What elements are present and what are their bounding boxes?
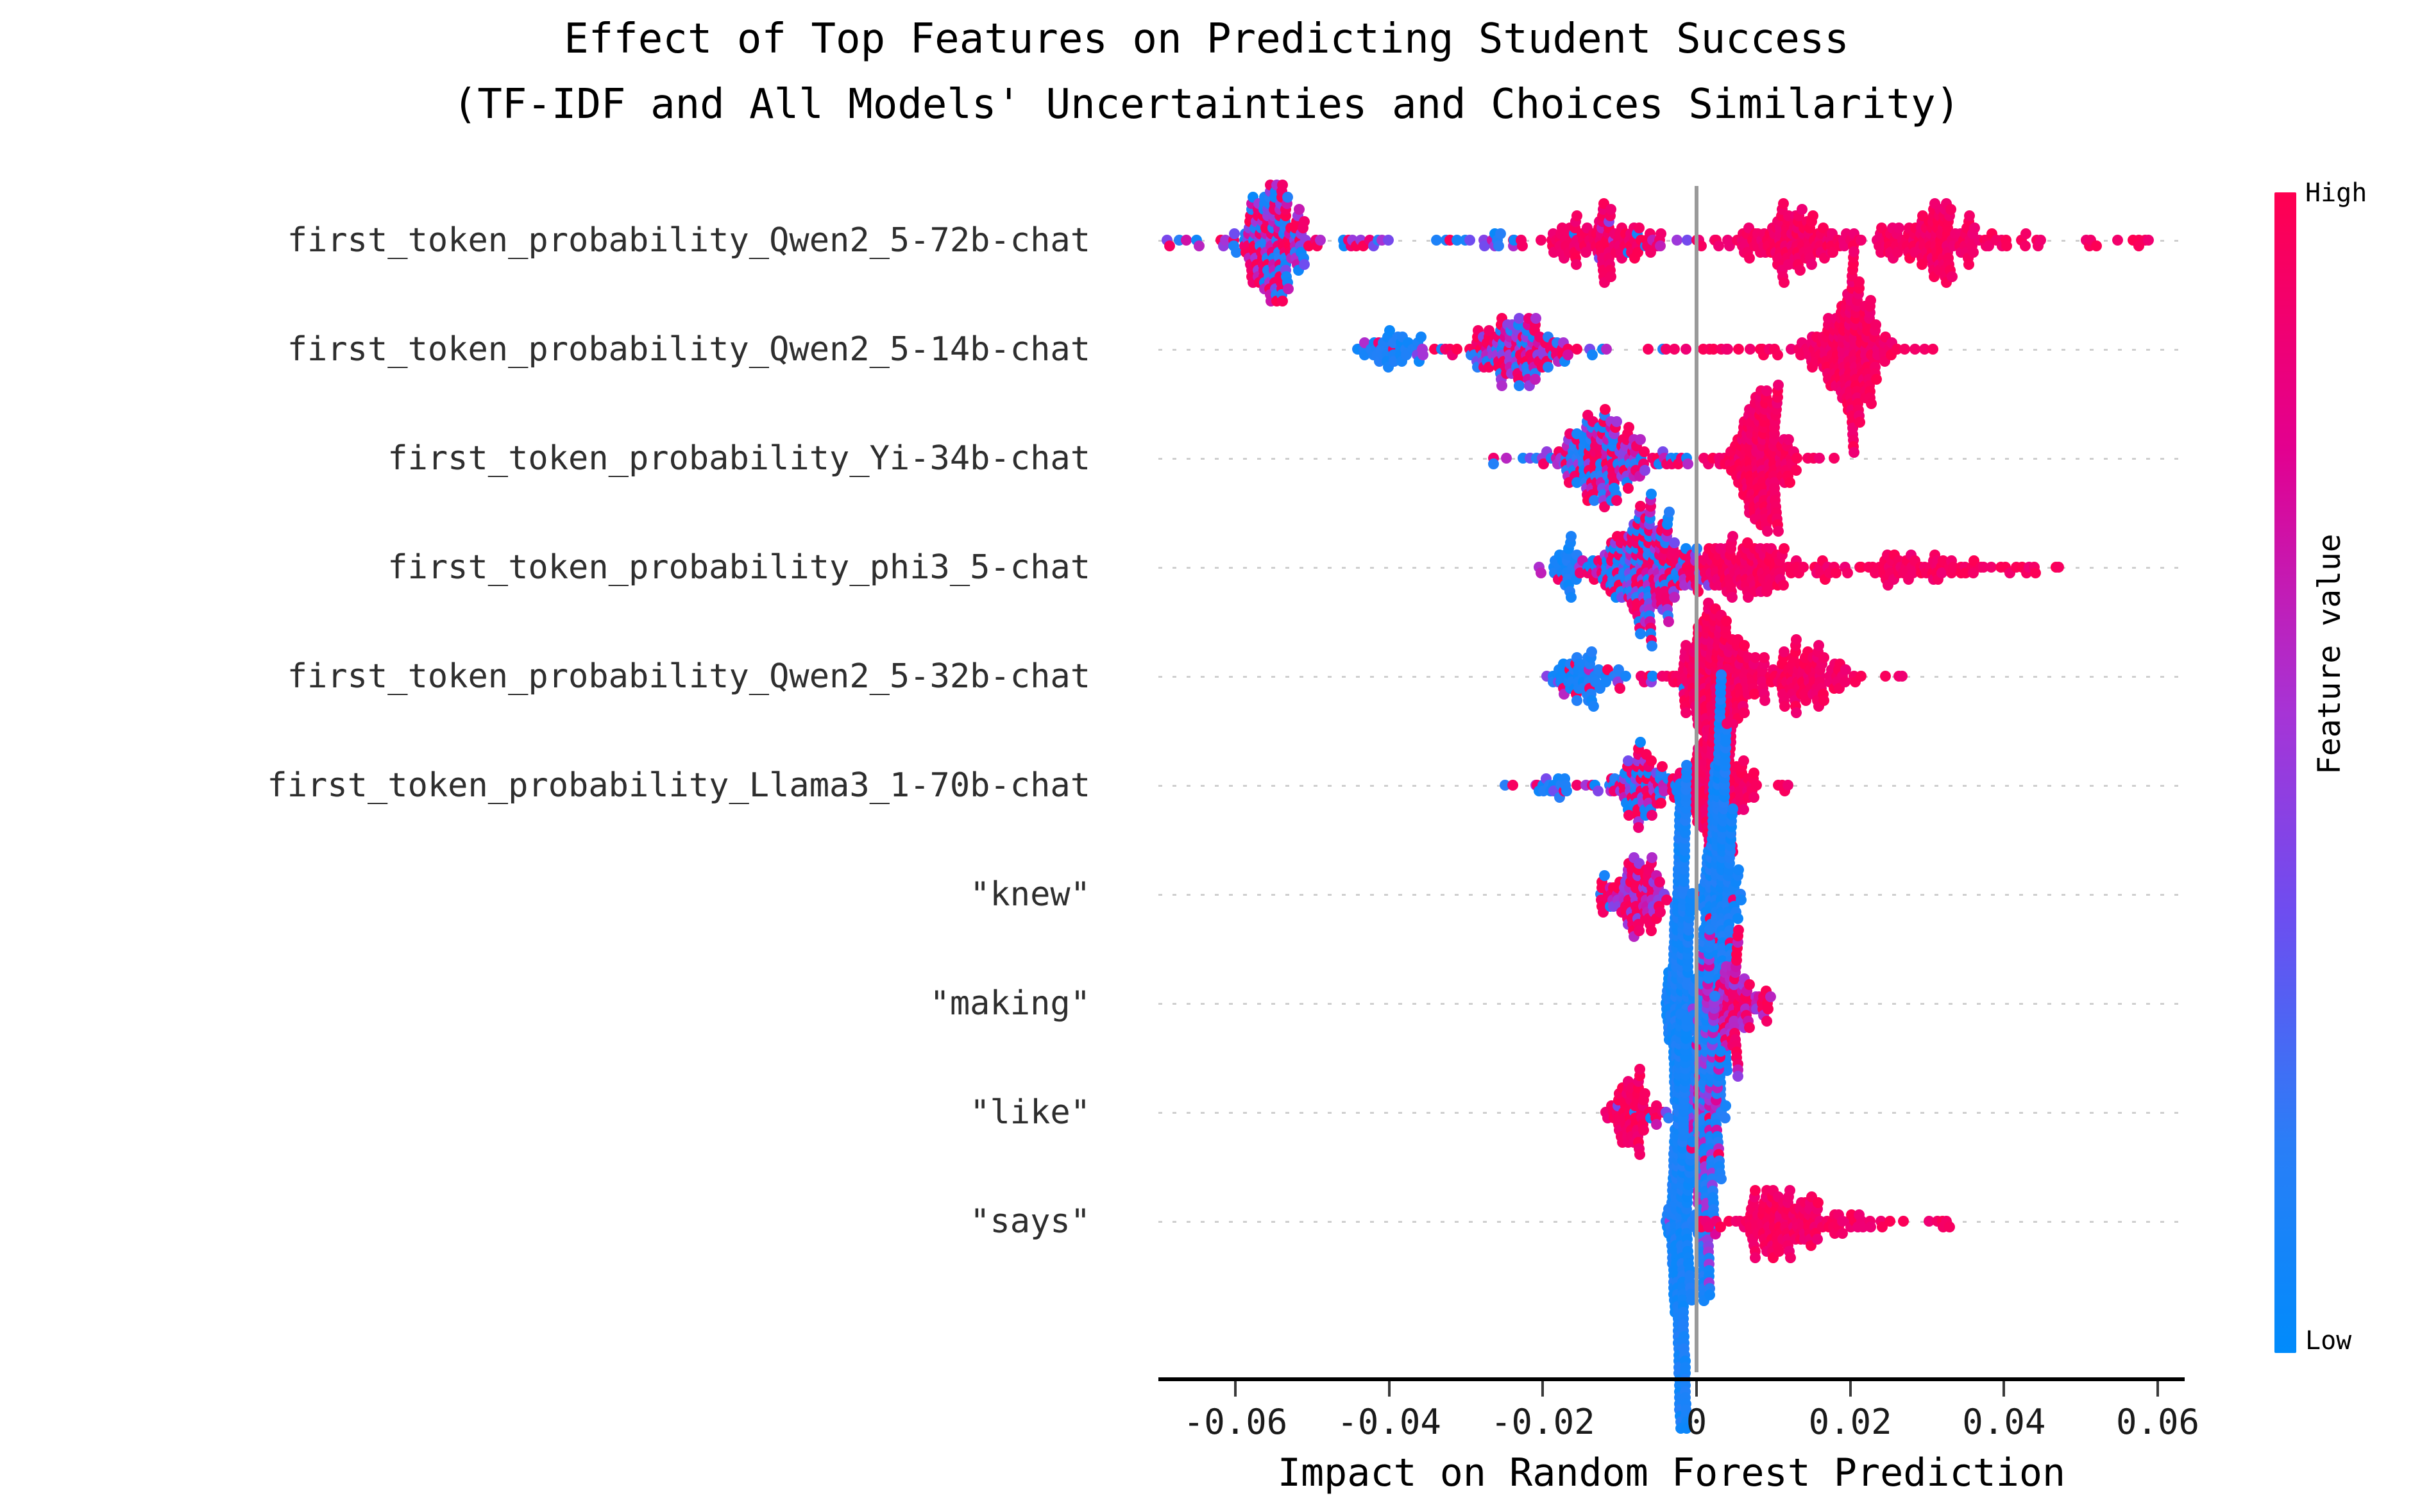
beeswarm-point — [1571, 259, 1582, 270]
beeswarm-point — [1229, 228, 1240, 239]
beeswarm-point — [1639, 1088, 1650, 1099]
beeswarm-point — [1720, 1113, 1731, 1123]
beeswarm-point — [1600, 404, 1611, 415]
beeswarm-point — [1744, 253, 1755, 264]
beeswarm-point — [1566, 531, 1577, 542]
beeswarm-point — [1722, 718, 1732, 729]
beeswarm-point — [1647, 810, 1657, 821]
beeswarm-point — [1452, 344, 1462, 355]
beeswarm-point — [1715, 1046, 1726, 1057]
beeswarm-point — [1818, 652, 1829, 663]
beeswarm-point — [1299, 259, 1310, 270]
beeswarm-point — [1635, 434, 1646, 445]
beeswarm-point — [1791, 634, 1802, 645]
beeswarm-point — [1806, 259, 1817, 270]
beeswarm-point — [1849, 246, 1859, 257]
beeswarm-point — [1784, 1185, 1795, 1196]
beeswarm-row — [1158, 404, 2185, 513]
beeswarm-point — [1488, 458, 1499, 469]
beeswarm-point — [1681, 707, 1691, 718]
y-axis-label: "like" — [970, 1058, 1090, 1167]
beeswarm-point — [1646, 925, 1657, 936]
x-axis-tick-label: 0.04 — [1962, 1402, 2045, 1442]
beeswarm-point — [1963, 259, 1974, 270]
beeswarm-point — [1655, 240, 1666, 251]
beeswarm-point — [1669, 537, 1680, 548]
beeswarm-point — [1655, 798, 1666, 809]
beeswarm-points — [1158, 949, 2185, 1058]
beeswarm-point — [1315, 235, 1326, 246]
beeswarm-point — [1543, 362, 1554, 373]
x-axis-tick — [1234, 1381, 1237, 1397]
beeswarm-points — [1158, 1167, 2185, 1276]
beeswarm-point — [1599, 870, 1610, 881]
beeswarm-point — [1634, 1149, 1645, 1160]
colorbar-low-label: Low — [2305, 1326, 2351, 1356]
beeswarm-point — [2001, 240, 2012, 251]
beeswarm-point — [1748, 768, 1759, 778]
beeswarm-point — [1898, 1216, 1909, 1227]
beeswarm-point — [1431, 235, 1442, 246]
beeswarm-point — [1763, 1004, 1774, 1014]
beeswarm-point — [1791, 465, 1802, 476]
chart-title-line-2: (TF-IDF and All Models' Uncertainties an… — [0, 72, 2413, 137]
beeswarm-point — [1944, 1222, 1955, 1232]
beeswarm-point — [1783, 434, 1794, 445]
beeswarm-point — [1587, 349, 1598, 360]
beeswarm-point — [1635, 737, 1646, 748]
beeswarm-point — [1672, 235, 1682, 246]
beeswarm-point — [1655, 907, 1666, 918]
y-axis-labels: first_token_probability_Qwen2_5-72b-chat… — [0, 186, 1116, 1372]
beeswarm-point — [1733, 344, 1744, 355]
chart-title: Effect of Top Features on Predicting Stu… — [0, 6, 2413, 137]
beeswarm-point — [1856, 671, 1867, 682]
beeswarm-points — [1158, 295, 2185, 404]
beeswarm-point — [1620, 671, 1631, 682]
beeswarm-point — [1865, 1222, 1876, 1232]
beeswarm-point — [1611, 416, 1622, 427]
beeswarm-point — [1181, 235, 1192, 246]
beeswarm-point — [1909, 344, 1920, 355]
beeswarm-point — [1646, 755, 1657, 766]
beeswarm-point — [1727, 592, 1738, 603]
beeswarm-point — [1791, 707, 1802, 718]
beeswarm-point — [1738, 755, 1749, 766]
beeswarm-point — [1704, 1289, 1715, 1300]
beeswarm-point — [1634, 223, 1645, 233]
beeswarm-point — [1727, 803, 1738, 814]
beeswarm-point — [2091, 240, 2102, 251]
beeswarm-point — [2035, 235, 2046, 246]
colorbar-high-label: High — [2305, 178, 2367, 208]
beeswarm-point — [1808, 210, 1818, 221]
beeswarm-point — [1633, 822, 1644, 833]
beeswarm-points — [1158, 513, 2185, 622]
x-axis-tick — [1388, 1381, 1391, 1397]
beeswarm-point — [1571, 210, 1582, 221]
beeswarm-point — [1681, 760, 1692, 771]
beeswarm-point — [1761, 385, 1772, 396]
beeswarm-point — [1623, 422, 1634, 433]
beeswarm-point — [1785, 1252, 1796, 1263]
beeswarm-point — [1870, 319, 1881, 330]
beeswarm-point — [1727, 531, 1738, 542]
beeswarm-point — [1782, 780, 1793, 791]
beeswarm-point — [1797, 204, 1808, 215]
beeswarm-point — [1772, 349, 1783, 360]
beeswarm-point — [1614, 683, 1625, 694]
x-axis-tick-label: -0.02 — [1491, 1402, 1595, 1442]
x-axis-tick-label: 0 — [1686, 1402, 1707, 1442]
beeswarm-point — [1536, 567, 1546, 578]
colorbar-axis-title: Feature value — [2312, 533, 2348, 775]
beeswarm-point — [1968, 247, 1979, 258]
beeswarm-point — [1571, 344, 1582, 355]
beeswarm-point — [1856, 235, 1867, 246]
beeswarm-point — [1493, 240, 1504, 251]
beeswarm-point — [1566, 592, 1577, 603]
beeswarm-point — [2053, 562, 2064, 573]
beeswarm-point — [1720, 1100, 1731, 1111]
beeswarm-point — [1646, 489, 1657, 500]
beeswarm-row — [1158, 949, 2185, 1058]
beeswarm-point — [1791, 453, 1802, 464]
beeswarm-point — [1682, 458, 1693, 469]
beeswarm-point — [1647, 852, 1657, 863]
beeswarm-point — [1897, 671, 1908, 682]
beeswarm-point — [1818, 695, 1829, 706]
beeswarm-point — [1759, 695, 1770, 706]
beeswarm-point — [1605, 204, 1616, 215]
beeswarm-point — [1842, 567, 1853, 578]
beeswarm-point — [1795, 265, 1806, 276]
beeswarm-point — [1601, 344, 1612, 355]
beeswarm-point — [1779, 277, 1790, 288]
x-axis-tick — [1849, 1381, 1852, 1397]
beeswarm-point — [1738, 804, 1749, 815]
beeswarm-point — [1655, 228, 1666, 239]
beeswarm-point — [1812, 1234, 1823, 1245]
beeswarm-point — [1651, 1119, 1662, 1130]
beeswarm-point — [1638, 1125, 1649, 1136]
colorbar — [2274, 192, 2296, 1353]
beeswarm-point — [1884, 1216, 1895, 1227]
beeswarm-point — [1739, 707, 1750, 718]
beeswarm-point — [1759, 652, 1770, 663]
x-axis-tick-label: -0.06 — [1183, 1402, 1288, 1442]
beeswarm-point — [1464, 235, 1475, 246]
x-axis-tick — [1541, 1381, 1544, 1397]
beeswarm-point — [1536, 235, 1546, 246]
beeswarm-row — [1158, 513, 2185, 622]
beeswarm-point — [1623, 483, 1634, 494]
beeswarm-points — [1158, 404, 2185, 513]
beeswarm-point — [1639, 465, 1650, 476]
beeswarm-point — [2020, 240, 2031, 251]
beeswarm-point — [1716, 669, 1727, 680]
beeswarm-row — [1158, 186, 2185, 295]
beeswarm-point — [1681, 1014, 1692, 1025]
beeswarm-point — [1779, 543, 1790, 554]
beeswarm-point — [1779, 701, 1790, 712]
x-axis-tick — [2002, 1381, 2005, 1397]
beeswarm-point — [1765, 991, 1776, 1002]
beeswarm-point — [1709, 991, 1720, 1002]
beeswarm-point — [1605, 271, 1616, 282]
beeswarm-point — [1745, 344, 1756, 355]
beeswarm-point — [1635, 501, 1646, 512]
y-axis-label: first_token_probability_Qwen2_5-32b-chat — [287, 622, 1090, 731]
chart-title-line-1: Effect of Top Features on Predicting Stu… — [0, 6, 2413, 72]
beeswarm-point — [1751, 780, 1762, 791]
beeswarm-point — [1501, 453, 1512, 464]
beeswarm-point — [1657, 761, 1668, 772]
beeswarm-point — [1561, 785, 1572, 796]
beeswarm-row — [1158, 1167, 2185, 1276]
beeswarm-point — [1814, 453, 1825, 464]
beeswarm-points — [1158, 622, 2185, 731]
beeswarm-point — [1507, 780, 1518, 791]
x-axis-tick — [1695, 1381, 1698, 1397]
x-axis-tick — [2156, 1381, 2159, 1397]
beeswarm-point — [1277, 180, 1288, 190]
beeswarm-point — [1418, 349, 1428, 360]
beeswarm-point — [1299, 216, 1310, 227]
beeswarm-point — [1899, 344, 1910, 355]
beeswarm-point — [1681, 344, 1691, 355]
beeswarm-point — [2143, 235, 2154, 246]
beeswarm-point — [1778, 198, 1789, 209]
beeswarm-point — [1829, 453, 1840, 464]
beeswarm-point — [1773, 380, 1784, 391]
beeswarm-points — [1158, 731, 2185, 840]
beeswarm-point — [1704, 924, 1715, 935]
beeswarm-point — [1778, 580, 1789, 591]
beeswarm-point — [1530, 374, 1541, 385]
beeswarm-point — [1927, 344, 1938, 355]
beeswarm-point — [1798, 562, 1809, 573]
beeswarm-point — [1880, 671, 1891, 682]
beeswarm-point — [1571, 695, 1582, 706]
beeswarm-point — [1732, 913, 1743, 924]
beeswarm-point — [1739, 640, 1750, 651]
beeswarm-point — [1586, 646, 1597, 657]
beeswarm-row — [1158, 622, 2185, 731]
beeswarm-point — [1871, 374, 1882, 385]
x-axis-line — [1158, 1377, 2185, 1381]
beeswarm-points — [1158, 186, 2185, 295]
beeswarm-point — [1496, 380, 1507, 391]
beeswarm-point — [1664, 507, 1675, 517]
beeswarm-point — [1733, 925, 1744, 936]
beeswarm-point — [2030, 567, 2041, 578]
y-axis-label: first_token_probability_Qwen2_5-72b-chat — [287, 186, 1090, 295]
beeswarm-point — [1744, 1022, 1755, 1033]
beeswarm-row — [1158, 295, 2185, 404]
beeswarm-point — [1588, 701, 1599, 712]
beeswarm-point — [1517, 240, 1528, 251]
beeswarm-point — [1283, 283, 1294, 294]
beeswarm-point — [1294, 204, 1305, 215]
beeswarm-point — [1634, 925, 1645, 936]
beeswarm-point — [1495, 228, 1506, 239]
beeswarm-point — [1736, 895, 1747, 905]
beeswarm-point — [1654, 877, 1665, 887]
beeswarm-point — [1733, 864, 1744, 875]
beeswarm-point — [1722, 344, 1733, 355]
x-axis-tick-label: 0.02 — [1809, 1402, 1892, 1442]
beeswarm-point — [1748, 792, 1759, 803]
beeswarm-point — [1383, 235, 1394, 246]
beeswarm-point — [1784, 477, 1795, 488]
beeswarm-plot-area — [1158, 186, 2185, 1372]
beeswarm-point — [1964, 210, 1975, 221]
x-axis-tick-label: 0.06 — [2116, 1402, 2199, 1442]
x-axis-tick-label: -0.04 — [1337, 1402, 1441, 1442]
beeswarm-point — [1611, 495, 1622, 506]
beeswarm-point — [1721, 616, 1732, 626]
y-axis-label: "says" — [970, 1167, 1090, 1276]
beeswarm-point — [1750, 1252, 1761, 1263]
x-axis-title: Impact on Random Forest Prediction — [1158, 1450, 2185, 1495]
beeswarm-point — [1194, 240, 1205, 251]
zero-reference-line — [1695, 186, 1698, 1372]
beeswarm-point — [1865, 295, 1876, 306]
y-axis-label: "making" — [930, 949, 1090, 1058]
beeswarm-point — [2020, 228, 2031, 239]
beeswarm-point — [1969, 223, 1980, 233]
beeswarm-point — [1744, 979, 1755, 990]
beeswarm-row — [1158, 731, 2185, 840]
beeswarm-point — [1945, 204, 1956, 215]
beeswarm-point — [1761, 1016, 1772, 1027]
beeswarm-point — [1669, 592, 1680, 603]
y-axis-label: first_token_probability_Yi-34b-chat — [387, 404, 1090, 513]
beeswarm-point — [1669, 344, 1680, 355]
beeswarm-point — [1416, 332, 1427, 342]
beeswarm-point — [1643, 344, 1654, 355]
y-axis-label: first_token_probability_Qwen2_5-14b-chat — [287, 295, 1090, 404]
y-axis-label: "knew" — [970, 840, 1090, 949]
y-axis-label: first_token_probability_Llama3_1-70b-cha… — [267, 731, 1090, 840]
beeswarm-point — [1947, 271, 1958, 282]
beeswarm-point — [2112, 235, 2123, 246]
beeswarm-point — [1593, 785, 1604, 796]
y-axis-label: first_token_probability_phi3_5-chat — [387, 513, 1090, 622]
